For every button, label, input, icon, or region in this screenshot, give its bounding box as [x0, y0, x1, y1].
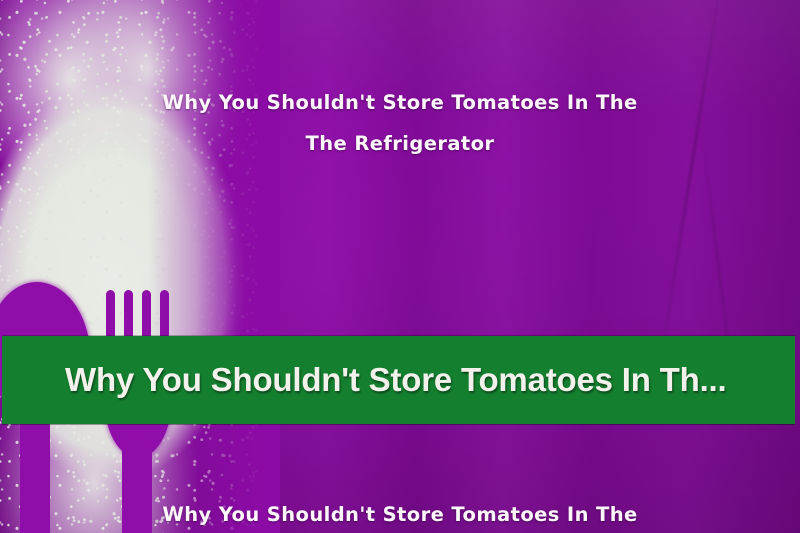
headline-bottom: Why You Shouldn't Store Tomatoes In The: [0, 502, 800, 528]
headline-top-line-1: Why You Shouldn't Store Tomatoes In The: [0, 82, 800, 123]
image-canvas: Why You Shouldn't Store Tomatoes In The …: [0, 0, 800, 533]
headline-top: Why You Shouldn't Store Tomatoes In The …: [0, 82, 800, 164]
green-banner-title: Why You Shouldn't Store Tomatoes In Th..…: [2, 361, 726, 399]
headline-top-line-2: The Refrigerator: [0, 123, 800, 164]
headline-bottom-line-1: Why You Shouldn't Store Tomatoes In The: [162, 503, 637, 526]
powder-utensils-group: [0, 0, 280, 533]
powder-fade-overlay: [0, 0, 280, 533]
green-title-banner[interactable]: Why You Shouldn't Store Tomatoes In Th..…: [2, 336, 795, 424]
